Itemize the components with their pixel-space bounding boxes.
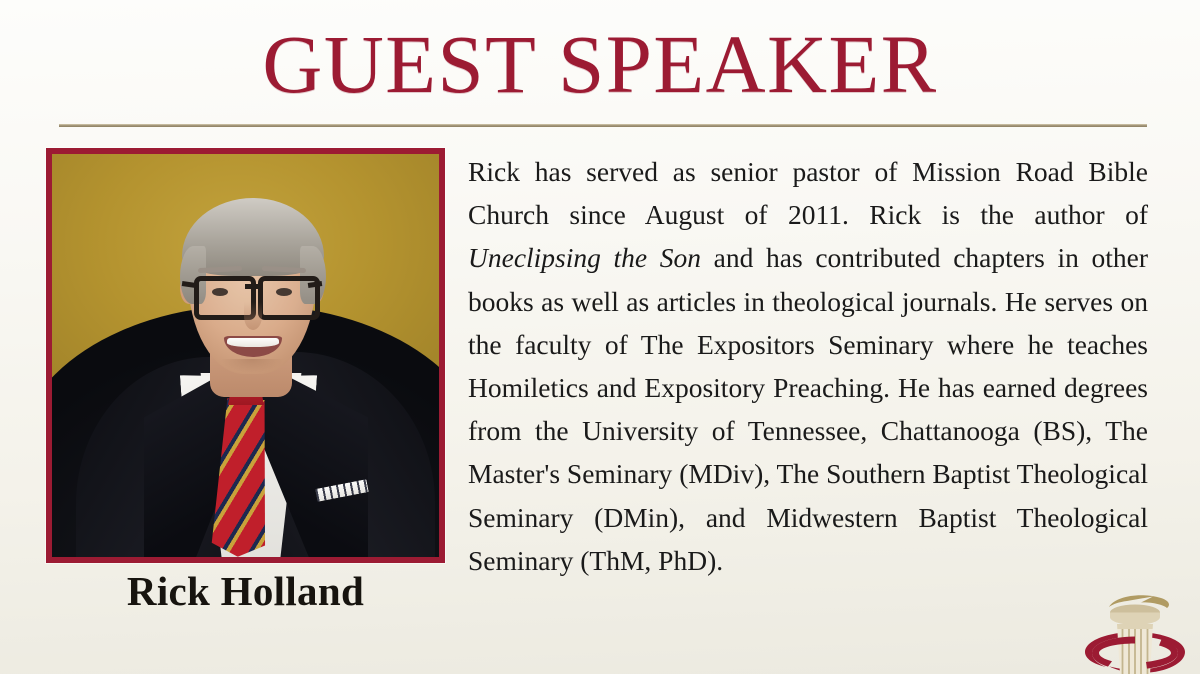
speaker-name: Rick Holland [46,566,445,616]
page-title: GUEST SPEAKER [0,16,1200,112]
book-title: Uneclipsing the Son [468,242,701,273]
teeth [227,338,279,347]
nose [244,302,262,330]
eyeglasses-bridge [245,284,259,289]
bio-text-part-2: and has contributed chapters in other bo… [468,242,1148,575]
pillar-orbit-logo [1083,588,1187,674]
speaker-photo-frame [46,148,445,563]
speaker-portrait-image [52,154,439,557]
logo-capital-body [1110,613,1160,626]
slide-canvas: GUEST SPEAKER [0,0,1200,674]
gold-divider [59,124,1147,127]
bio-text-part-1: Rick has served as senior pastor of Miss… [468,156,1148,230]
chin-shadow [220,359,284,373]
speaker-bio: Rick has served as senior pastor of Miss… [468,150,1148,582]
